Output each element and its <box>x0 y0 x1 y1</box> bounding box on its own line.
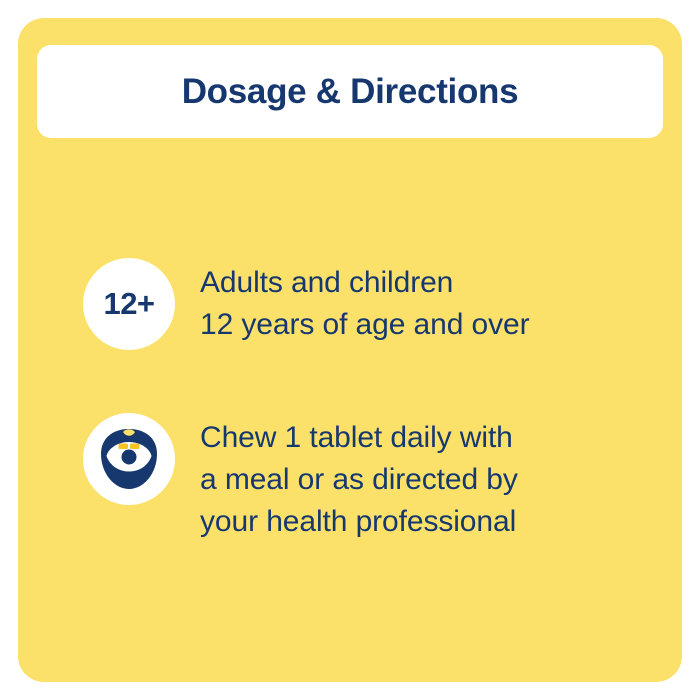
instruction-line: 12 years of age and over <box>200 304 530 346</box>
page-title: Dosage & Directions <box>182 74 519 109</box>
instruction-line: Chew 1 tablet daily with <box>200 417 518 459</box>
instruction-text-age: Adults and children 12 years of age and … <box>200 262 530 346</box>
age-badge-label: 12+ <box>103 288 154 319</box>
age-12-plus-icon: 12+ <box>83 258 175 350</box>
instruction-line: a meal or as directed by <box>200 459 518 501</box>
instruction-row-age: 12+ Adults and children 12 years of age … <box>83 258 530 350</box>
instruction-text-chew: Chew 1 tablet daily with a meal or as di… <box>200 417 518 543</box>
instruction-line: your health professional <box>200 501 518 543</box>
chewable-tablet-mouth-icon <box>83 413 175 505</box>
dosage-directions-panel: Dosage & Directions 12+ Adults and child… <box>18 18 682 682</box>
instruction-row-chew: Chew 1 tablet daily with a meal or as di… <box>83 413 518 543</box>
instruction-line: Adults and children <box>200 262 530 304</box>
title-card: Dosage & Directions <box>37 45 663 138</box>
